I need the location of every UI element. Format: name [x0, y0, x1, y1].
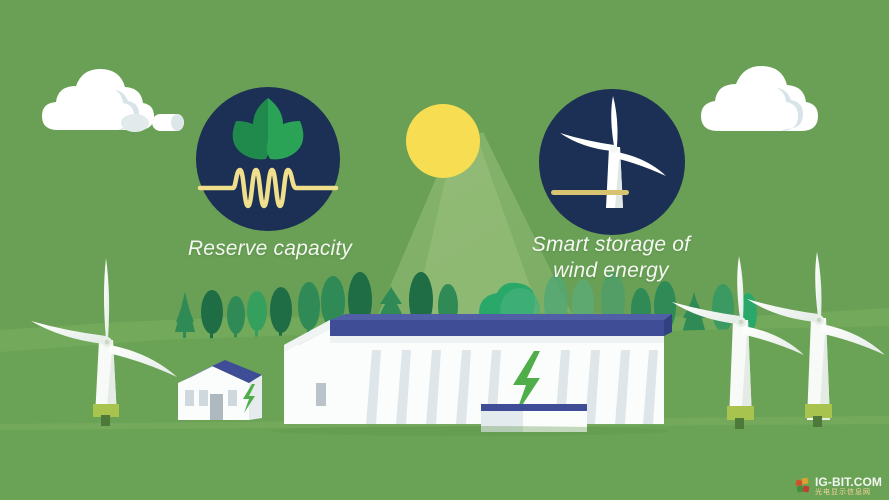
watermark-domain: IG-BIT.COM	[815, 476, 882, 488]
scene-vector	[0, 0, 889, 500]
watermark-text: IG-BIT.COM 光电显示信息网	[815, 476, 882, 496]
watermark-logo-icon	[796, 478, 812, 494]
reserve-capacity-badge[interactable]	[196, 87, 340, 231]
wind-storage-badge[interactable]	[539, 89, 685, 235]
small-cloud-icon	[152, 114, 184, 131]
yellow-bar-icon	[551, 190, 629, 195]
label-reserve-capacity: Reserve capacity	[150, 236, 390, 262]
ig-bit-watermark: IG-BIT.COM 光电显示信息网	[793, 474, 885, 497]
label-smart-storage: Smart storage of wind energy	[486, 232, 736, 284]
sun-icon	[406, 104, 480, 178]
watermark-subtitle: 光电显示信息网	[815, 489, 882, 496]
battery-storage-factory	[270, 314, 672, 436]
illustration-canvas: Reserve capacity Smart storage of wind e…	[0, 0, 889, 500]
